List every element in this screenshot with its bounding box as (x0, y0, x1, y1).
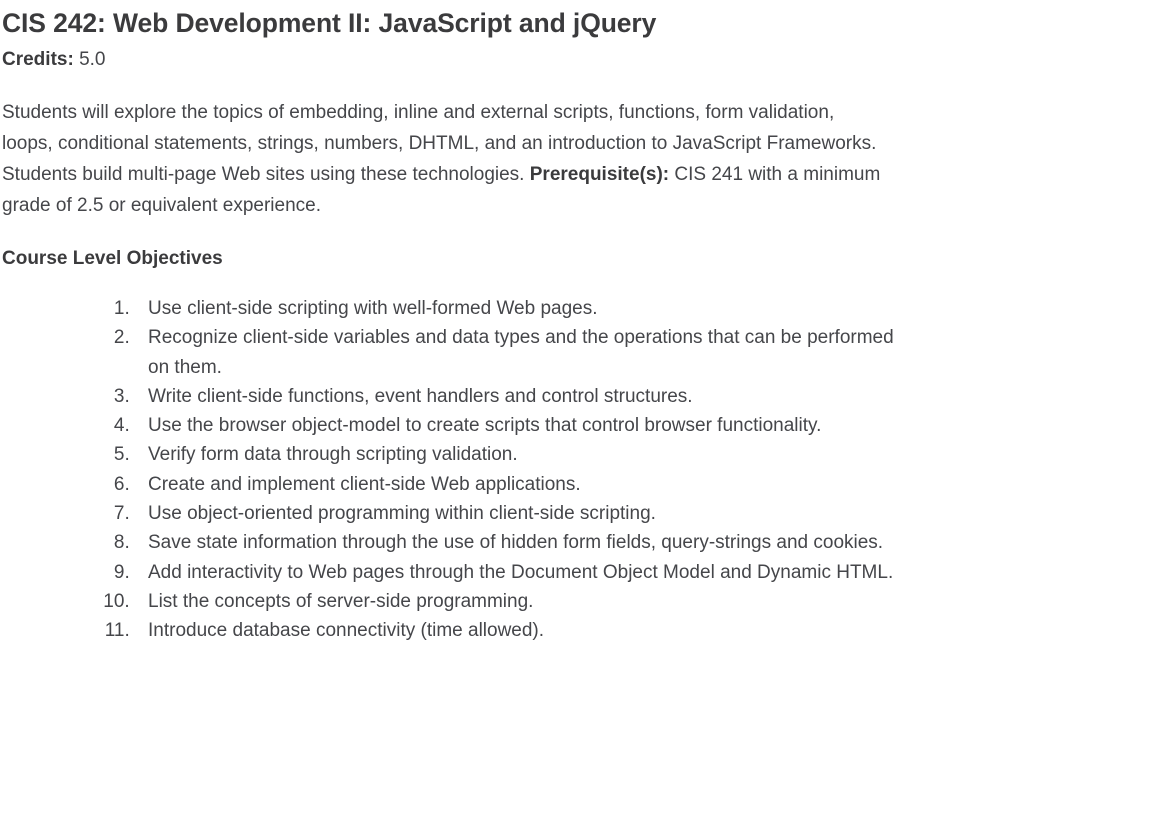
objectives-list: Use client-side scripting with well-form… (2, 294, 895, 646)
list-item: Verify form data through scripting valid… (135, 440, 895, 469)
list-item: Use the browser object-model to create s… (135, 411, 895, 440)
list-item: Add interactivity to Web pages through t… (135, 558, 895, 587)
credits-value: 5.0 (79, 49, 105, 70)
list-item: Use client-side scripting with well-form… (135, 294, 895, 323)
list-item: Recognize client-side variables and data… (135, 323, 895, 382)
objectives-heading: Course Level Objectives (2, 245, 1152, 272)
list-item: Save state information through the use o… (135, 528, 895, 557)
page-title: CIS 242: Web Development II: JavaScript … (2, 6, 1152, 40)
prerequisite-label: Prerequisite(s): (530, 164, 669, 185)
course-description-page: CIS 242: Web Development II: JavaScript … (0, 0, 1152, 646)
list-item: Create and implement client-side Web app… (135, 470, 895, 499)
credits-label: Credits: (2, 49, 74, 70)
course-description: Students will explore the topics of embe… (2, 97, 882, 221)
list-item: Write client-side functions, event handl… (135, 382, 895, 411)
list-item: List the concepts of server-side program… (135, 587, 895, 616)
list-item: Use object-oriented programming within c… (135, 499, 895, 528)
list-item: Introduce database connectivity (time al… (135, 616, 895, 645)
credits-line: Credits: 5.0 (2, 46, 1152, 73)
